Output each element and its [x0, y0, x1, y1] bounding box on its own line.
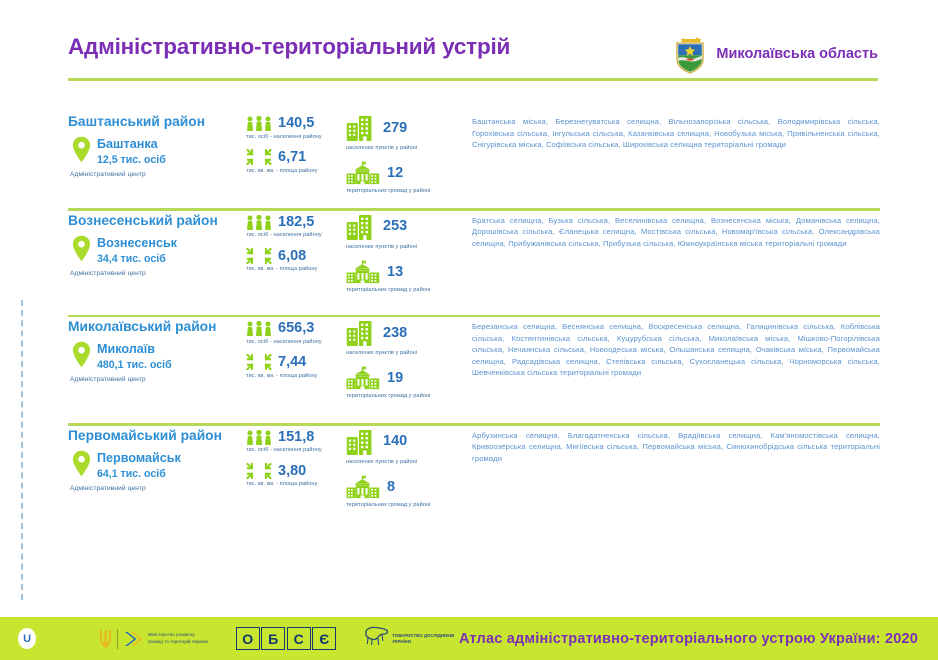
hromadas-stat: 8 територіальних громад у районі — [346, 475, 464, 509]
population-stat: 656,3 тис. осіб - населення району — [246, 321, 346, 345]
district-identity: Баштанський район Баштанка 12,5 тис. осі… — [68, 112, 246, 178]
district-row: Первомайський район Первомайськ 64,1 тис… — [68, 426, 880, 522]
district-row: Вознесенський район Вознесенськ 34,4 тис… — [68, 211, 880, 315]
admin-center-block: Первомайськ 64,1 тис. осіб — [72, 449, 246, 482]
minregion-label: Міністерство розвитку громад та територі… — [148, 632, 209, 644]
communities-list: Березанська селищна, Веснянська селищна,… — [472, 321, 880, 379]
footer-logos: U Міністерство розвитку громад та терито… — [0, 624, 459, 653]
admin-center-caption: Адміністративний центр — [70, 171, 246, 178]
area-value: 7,44 — [278, 355, 306, 370]
buildings-icon — [346, 213, 376, 241]
coat-of-arms-icon — [673, 34, 707, 74]
hromadas-stat: 12 територіальних громад у районі — [346, 161, 464, 195]
district-name: Баштанський район — [68, 114, 246, 129]
admin-center-population: 480,1 тис. осіб — [97, 359, 172, 373]
population-stat: 182,5 тис. осіб - населення району — [246, 215, 346, 239]
communities-column: Арбузинська селищна, Благодатненська сіл… — [464, 426, 880, 465]
district-units: 279 населених пунктів у районі — [346, 112, 464, 205]
district-identity: Первомайський район Первомайськ 64,1 тис… — [68, 426, 246, 492]
hromadas-stat: 13 територіальних громад у районі — [346, 260, 464, 294]
communities-list: Баштанська міська, Березнегуватська сели… — [472, 116, 880, 151]
settlements-stat: 140 населених пунктів у районі — [346, 428, 464, 466]
area-stat: 7,44 тис. кв. км. - площа району — [246, 354, 346, 379]
settlements-stat: 279 населених пунктів у районі — [346, 114, 464, 152]
settlements-caption: населених пунктів у районі — [346, 244, 464, 251]
population-stat: 151,8 тис. осіб - населення району — [246, 430, 346, 454]
hromadas-value: 8 — [387, 480, 395, 495]
people-group-icon — [246, 321, 272, 336]
town-hall-icon — [346, 161, 380, 185]
town-hall-icon — [346, 475, 380, 499]
area-value: 6,71 — [278, 150, 306, 165]
hromadas-caption: територіальних громад у районі — [346, 188, 464, 195]
buildings-icon — [346, 428, 376, 456]
area-caption: тис. кв. км. - площа району — [246, 168, 346, 175]
communities-column: Березанська селищна, Веснянська селищна,… — [464, 317, 880, 379]
admin-center-name: Баштанка — [97, 137, 158, 151]
population-value: 140,5 — [278, 116, 314, 131]
population-caption: тис. осіб - населення району — [246, 134, 346, 141]
district-name: Первомайський район — [68, 428, 246, 443]
area-arrows-icon — [246, 463, 272, 479]
people-group-icon — [246, 430, 272, 445]
district-name: Миколаївський район — [68, 319, 246, 334]
districts-table: Баштанський район Баштанка 12,5 тис. осі… — [68, 112, 880, 522]
settlements-value: 253 — [383, 219, 407, 234]
population-caption: тис. осіб - населення району — [246, 232, 346, 239]
settlements-caption: населених пунктів у районі — [346, 350, 464, 357]
settlements-caption: населених пунктів у районі — [346, 459, 464, 466]
tdm-logo: ТОВАРИСТВО ДОСЛІДНИКІВ УКРАЇНИ — [363, 624, 459, 653]
district-units: 253 населених пунктів у районі — [346, 211, 464, 304]
area-stat: 6,08 тис. кв. км. - площа району — [246, 248, 346, 273]
admin-center-name: Миколаїв — [97, 342, 155, 356]
area-stat: 6,71 тис. кв. км. - площа району — [246, 149, 346, 174]
osce-letter-ye: Є — [312, 627, 336, 650]
district-name: Вознесенський район — [68, 213, 246, 228]
left-margin-dashed-rule — [21, 300, 23, 600]
osce-letter-b: Б — [261, 627, 285, 650]
communities-list: Братська селищна, Бузька сільська, Весел… — [472, 215, 880, 250]
admin-center-name: Вознесенськ — [97, 236, 177, 250]
hromadas-value: 19 — [387, 371, 403, 386]
settlements-value: 238 — [383, 326, 407, 341]
buildings-icon — [346, 319, 376, 347]
hromadas-caption: територіальних громад у районі — [346, 393, 464, 400]
district-identity: Миколаївський район Миколаїв 480,1 тис. … — [68, 317, 246, 383]
admin-center-block: Баштанка 12,5 тис. осіб — [72, 135, 246, 168]
map-pin-icon — [72, 235, 91, 262]
hromadas-caption: територіальних громад у районі — [346, 287, 464, 294]
communities-list: Арбузинська селищна, Благодатненська сіл… — [472, 430, 880, 465]
page-title: Адміністративно-територіальний устрій — [68, 34, 510, 60]
area-arrows-icon — [246, 149, 272, 165]
area-value: 3,80 — [278, 464, 306, 479]
communities-column: Братська селищна, Бузька сільська, Весел… — [464, 211, 880, 250]
osce-letter-o: О — [236, 627, 260, 650]
population-stat: 140,5 тис. осіб - населення району — [246, 116, 346, 140]
district-measures: 656,3 тис. осіб - населення району 7,44 … — [246, 317, 346, 389]
district-measures: 182,5 тис. осіб - населення району 6,08 … — [246, 211, 346, 283]
admin-center-block: Миколаїв 480,1 тис. осіб — [72, 340, 246, 373]
district-identity: Вознесенський район Вознесенськ 34,4 тис… — [68, 211, 246, 277]
town-hall-icon — [346, 260, 380, 284]
settlements-stat: 253 населених пунктів у районі — [346, 213, 464, 251]
district-measures: 151,8 тис. осіб - населення району 3,80 … — [246, 426, 346, 498]
map-pin-icon — [72, 450, 91, 477]
admin-center-population: 64,1 тис. осіб — [97, 468, 181, 482]
tdm-label: ТОВАРИСТВО ДОСЛІДНИКІВ УКРАЇНИ — [392, 633, 459, 645]
population-value: 656,3 — [278, 321, 314, 336]
page-header: Адміністративно-територіальний устрій Ми… — [68, 34, 878, 82]
area-caption: тис. кв. км. - площа району — [246, 373, 346, 380]
town-hall-icon — [346, 366, 380, 390]
publisher-logo-icon: U — [18, 628, 36, 649]
admin-center-population: 34,4 тис. осіб — [97, 253, 177, 267]
ukraine-outline-icon — [363, 624, 389, 653]
population-value: 182,5 — [278, 215, 314, 230]
admin-center-name: Первомайськ — [97, 451, 181, 465]
area-value: 6,08 — [278, 249, 306, 264]
oblast-identity: Миколаївська область — [673, 34, 878, 74]
population-caption: тис. осіб - населення району — [246, 339, 346, 346]
area-arrows-icon — [246, 248, 272, 264]
tryzub-icon — [99, 628, 112, 649]
admin-center-block: Вознесенськ 34,4 тис. осіб — [72, 234, 246, 267]
district-units: 238 населених пунктів у районі — [346, 317, 464, 410]
settlements-stat: 238 населених пунктів у районі — [346, 319, 464, 357]
atlas-page: Адміністративно-територіальний устрій Ми… — [0, 0, 938, 660]
people-group-icon — [246, 215, 272, 230]
hromadas-stat: 19 територіальних громад у районі — [346, 366, 464, 400]
admin-center-caption: Адміністративний центр — [70, 376, 246, 383]
hromadas-value: 13 — [387, 265, 403, 280]
chevrons-icon — [123, 629, 143, 649]
population-value: 151,8 — [278, 430, 314, 445]
area-caption: тис. кв. км. - площа району — [246, 481, 346, 488]
map-pin-icon — [72, 341, 91, 368]
area-arrows-icon — [246, 354, 272, 370]
minregion-logo: Міністерство розвитку громад та територі… — [99, 628, 209, 649]
admin-center-caption: Адміністративний центр — [70, 270, 246, 277]
osce-letter-s: С — [287, 627, 311, 650]
admin-center-caption: Адміністративний центр — [70, 485, 246, 492]
population-caption: тис. осіб - населення району — [246, 447, 346, 454]
header-divider — [68, 78, 878, 81]
settlements-value: 140 — [383, 434, 407, 449]
admin-center-population: 12,5 тис. осіб — [97, 154, 166, 168]
district-row: Баштанський район Баштанка 12,5 тис. осі… — [68, 112, 880, 208]
map-pin-icon — [72, 136, 91, 163]
area-caption: тис. кв. км. - площа району — [246, 266, 346, 273]
buildings-icon — [346, 114, 376, 142]
hromadas-caption: територіальних громад у районі — [346, 502, 464, 509]
settlements-caption: населених пунктів у районі — [346, 145, 464, 152]
page-footer: U Міністерство розвитку громад та терито… — [0, 617, 938, 660]
area-stat: 3,80 тис. кв. км. - площа району — [246, 463, 346, 488]
district-measures: 140,5 тис. осіб - населення району 6,71 … — [246, 112, 346, 184]
district-units: 140 населених пунктів у районі — [346, 426, 464, 519]
footer-title: Атлас адміністративно-територіального ус… — [459, 631, 938, 647]
people-group-icon — [246, 116, 272, 131]
settlements-value: 279 — [383, 121, 407, 136]
logo-separator — [117, 629, 118, 649]
osce-logo: О Б С Є — [236, 627, 337, 650]
hromadas-value: 12 — [387, 166, 403, 181]
communities-column: Баштанська міська, Березнегуватська сели… — [464, 112, 880, 151]
oblast-name: Миколаївська область — [716, 46, 878, 62]
district-row: Миколаївський район Миколаїв 480,1 тис. … — [68, 317, 880, 423]
